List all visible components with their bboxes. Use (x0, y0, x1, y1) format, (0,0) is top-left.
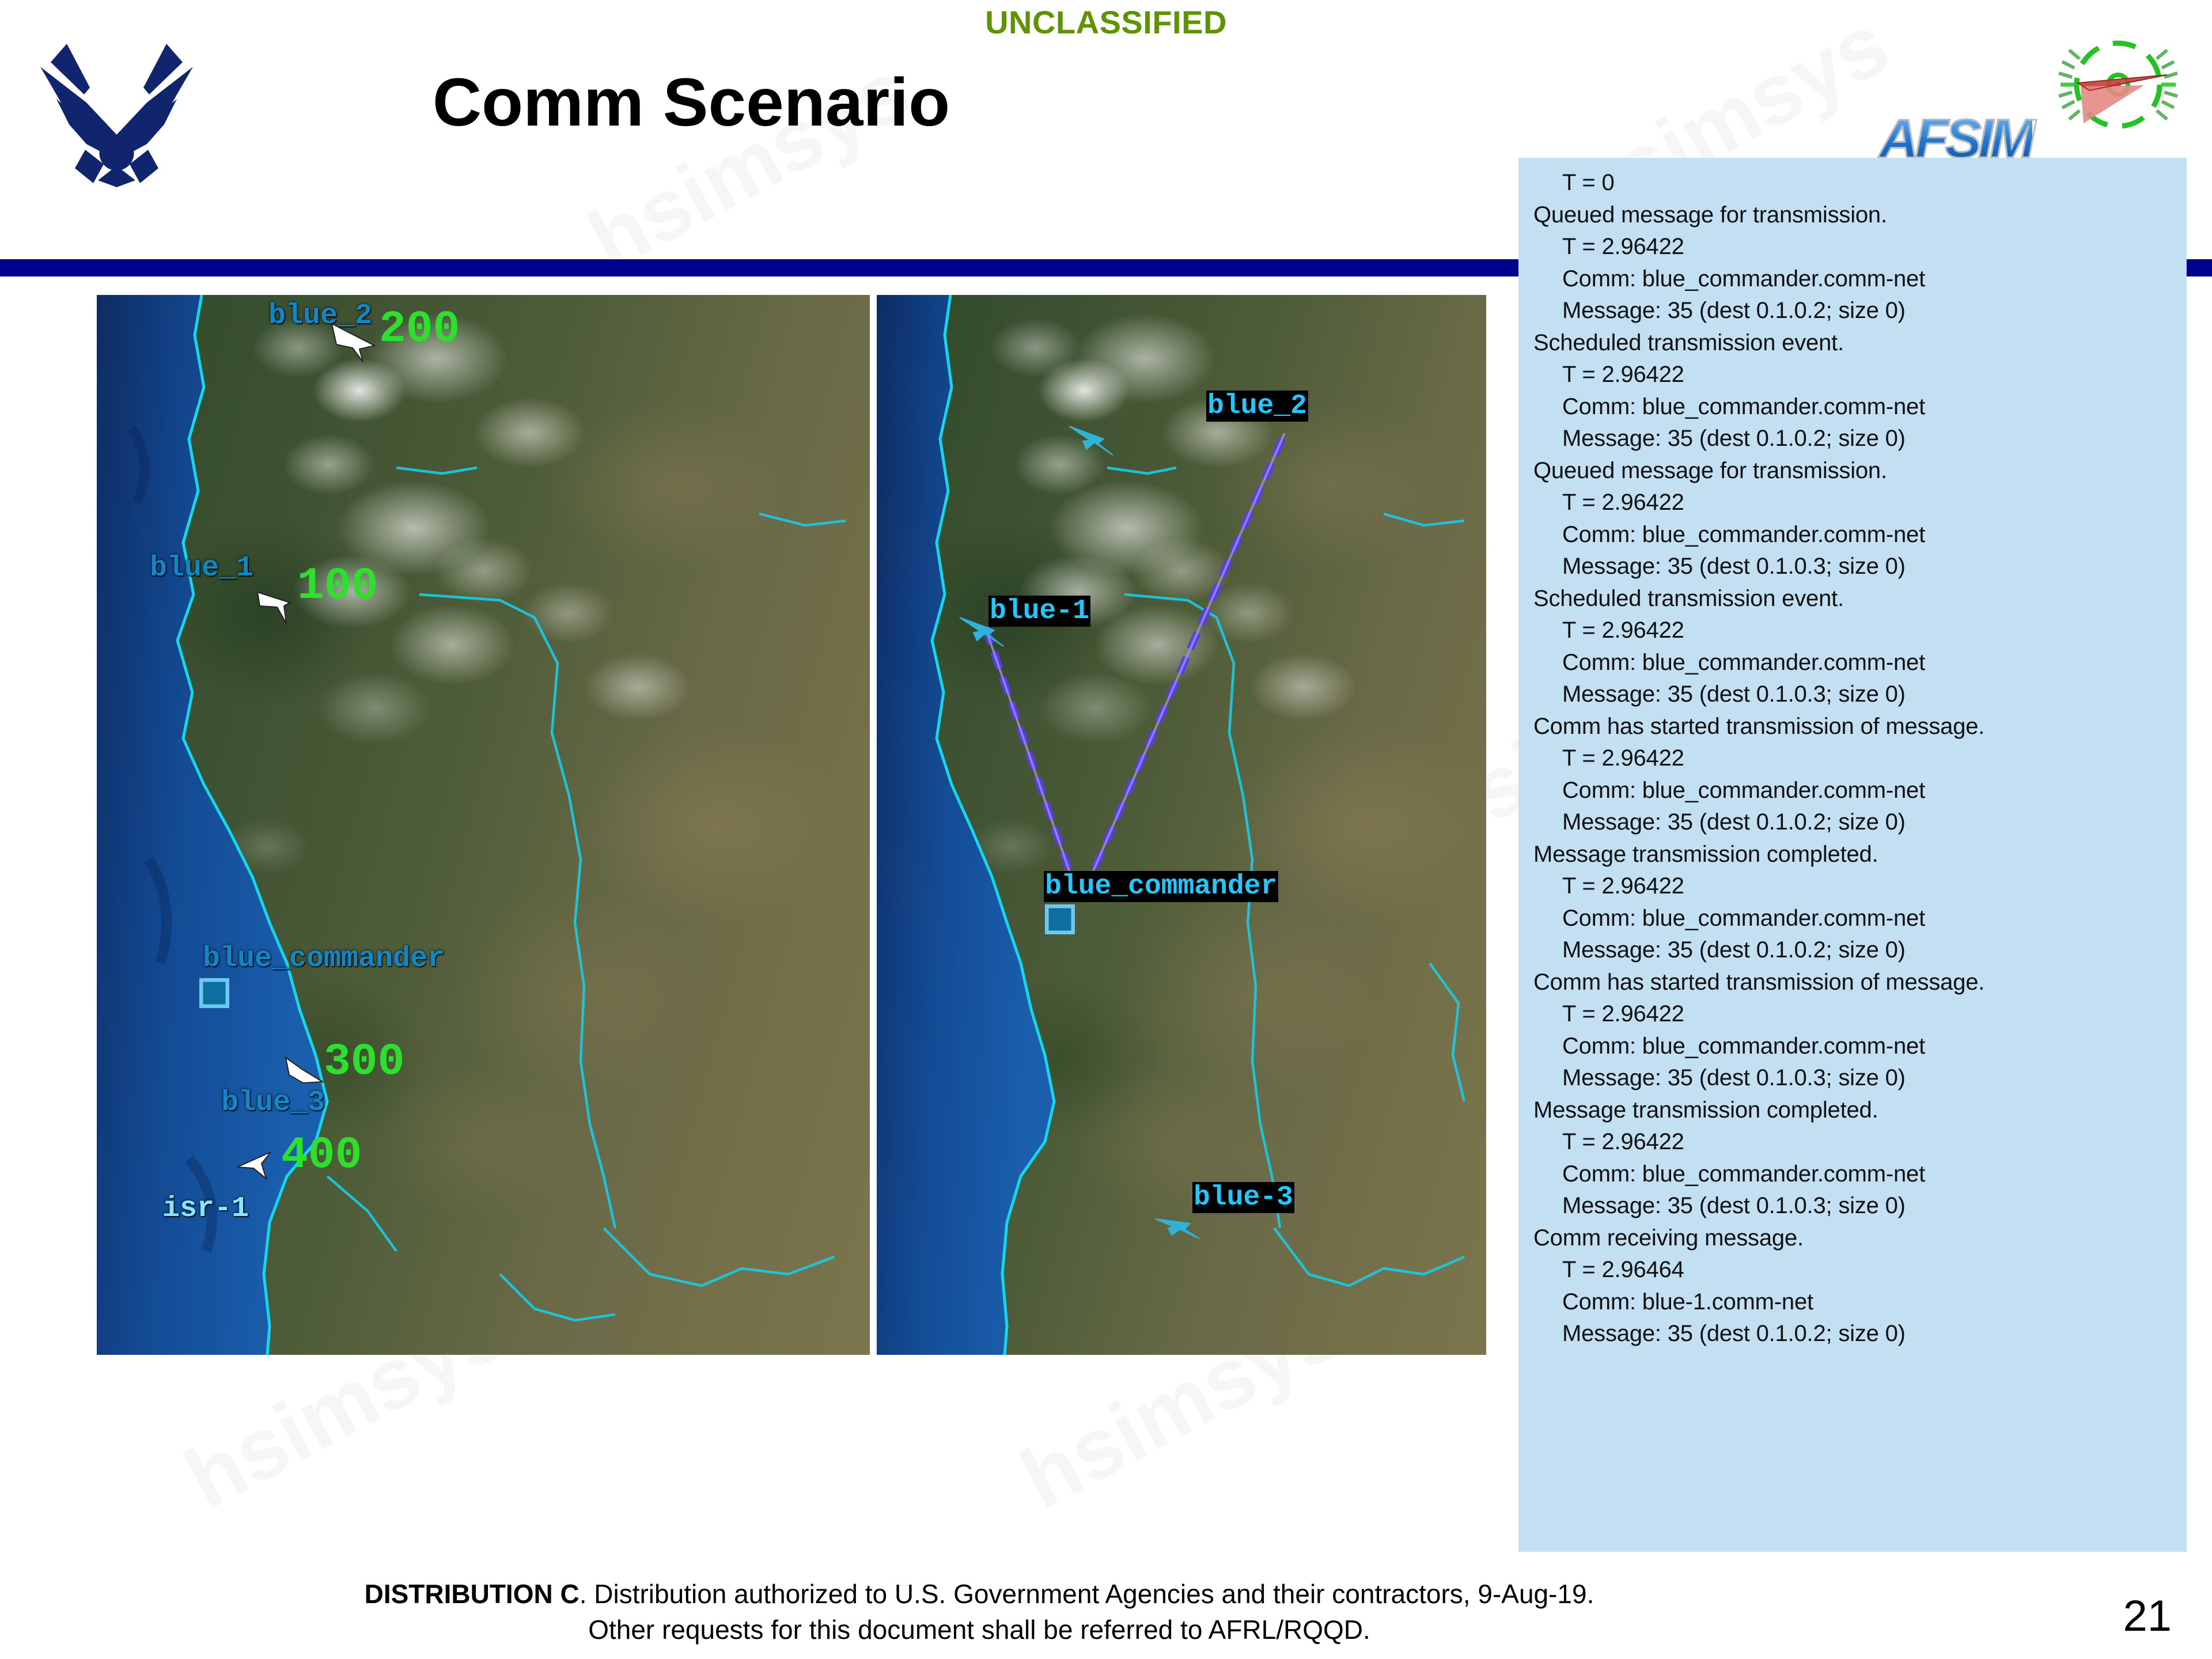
log-line: Scheduled transmission event. (1533, 583, 2174, 615)
log-line: T = 2.96422 (1533, 1126, 2174, 1158)
distribution-statement-line2: Other requests for this document shall b… (0, 1612, 1959, 1647)
aircraft-icon-isr-1[interactable] (235, 1149, 282, 1190)
log-line: Message: 35 (dest 0.1.0.3; size 0) (1533, 679, 2174, 711)
map-label-blue-1[interactable]: blue_1 (150, 552, 253, 585)
map-label-blue-3[interactable]: blue-3 (1192, 1182, 1294, 1213)
log-line: Comm receiving message. (1533, 1222, 2174, 1255)
log-line: Comm has started transmission of message… (1533, 967, 2174, 999)
log-line: T = 2.96422 (1533, 743, 2174, 775)
log-line: Message: 35 (dest 0.1.0.3; size 0) (1533, 1062, 2174, 1094)
scenario-map-left[interactable]: blue_2 200 blue_1 100 blue_commander 300… (97, 295, 870, 1355)
log-line: Comm: blue_commander.comm-net (1533, 391, 2174, 423)
distribution-label: DISTRIBUTION C (365, 1579, 579, 1609)
log-line: Message: 35 (dest 0.1.0.2; size 0) (1533, 295, 2174, 327)
map-label-blue-2[interactable]: blue_2 (1206, 391, 1308, 422)
log-line: Scheduled transmission event. (1533, 327, 2174, 359)
log-line: Message transmission completed. (1533, 839, 2174, 871)
ground-station-icon-blue-commander[interactable] (199, 978, 229, 1011)
aircraft-icon-blue-2[interactable] (329, 319, 381, 368)
altitude-label-blue-3: 300 (324, 1037, 404, 1088)
log-line: Comm: blue_commander.comm-net (1533, 647, 2174, 679)
log-line: Comm: blue_commander.comm-net (1533, 775, 2174, 807)
footer: DISTRIBUTION C. Distribution authorized … (0, 1576, 1959, 1647)
log-line: Comm: blue-1.comm-net (1533, 1286, 2174, 1319)
afsim-logo: AFSIM (1879, 30, 2202, 174)
log-line: Message: 35 (dest 0.1.0.2; size 0) (1533, 1318, 2174, 1350)
altitude-label-blue-1: 100 (297, 561, 378, 612)
log-line: Queued message for transmission. (1533, 199, 2174, 232)
log-line: Queued message for transmission. (1533, 455, 2174, 487)
scenario-map-right[interactable]: blue_2 blue-1 blue_commander blue-3 (877, 295, 1486, 1355)
log-line: Message: 35 (dest 0.1.0.3; size 0) (1533, 1190, 2174, 1222)
log-line: T = 2.96422 (1533, 870, 2174, 903)
comm-link-layer (877, 295, 1486, 1355)
distribution-statement: DISTRIBUTION C. Distribution authorized … (0, 1576, 1959, 1612)
red-aircraft-icon (2078, 75, 2167, 123)
distribution-text: . Distribution authorized to U.S. Govern… (579, 1579, 1594, 1609)
log-line: Comm: blue_commander.comm-net (1533, 263, 2174, 296)
log-line: Message: 35 (dest 0.1.0.2; size 0) (1533, 423, 2174, 455)
log-line: T = 0 (1533, 167, 2174, 199)
map-label-isr-1[interactable]: isr-1 (162, 1192, 249, 1225)
aircraft-icon-blue-3[interactable] (1154, 1212, 1204, 1251)
page-number: 21 (2123, 1591, 2172, 1641)
log-line: Comm: blue_commander.comm-net (1533, 903, 2174, 935)
map-label-blue-3[interactable]: blue_3 (221, 1086, 325, 1119)
log-line: Message: 35 (dest 0.1.0.2; size 0) (1533, 934, 2174, 967)
map-label-blue-commander[interactable]: blue_commander (1044, 871, 1278, 902)
log-line: Message: 35 (dest 0.1.0.2; size 0) (1533, 806, 2174, 839)
altitude-label-isr-1: 400 (281, 1130, 362, 1181)
log-line: T = 2.96422 (1533, 231, 2174, 263)
log-line: Comm: blue_commander.comm-net (1533, 1158, 2174, 1191)
log-line: Comm has started transmission of message… (1533, 711, 2174, 743)
altitude-label-blue-2: 200 (379, 304, 460, 355)
log-line: Comm: blue_commander.comm-net (1533, 1031, 2174, 1063)
log-line: T = 2.96422 (1533, 615, 2174, 647)
log-line: T = 2.96464 (1533, 1254, 2174, 1286)
ground-station-icon-blue-commander[interactable] (1045, 904, 1075, 937)
aircraft-icon-blue-2[interactable] (1068, 424, 1118, 467)
log-line: T = 2.96422 (1533, 359, 2174, 391)
log-line: T = 2.96422 (1533, 998, 2174, 1031)
simulation-event-log[interactable]: T = 0Queued message for transmission.T =… (1518, 158, 2187, 1552)
log-line: Message: 35 (dest 0.1.0.3; size 0) (1533, 551, 2174, 583)
log-line: T = 2.96422 (1533, 487, 2174, 519)
log-line: Message transmission completed. (1533, 1094, 2174, 1127)
map-label-blue-commander[interactable]: blue_commander (203, 942, 445, 975)
aircraft-icon-blue-1[interactable] (959, 615, 1008, 658)
log-line: Comm: blue_commander.comm-net (1533, 519, 2174, 551)
us-air-force-logo (17, 17, 216, 187)
